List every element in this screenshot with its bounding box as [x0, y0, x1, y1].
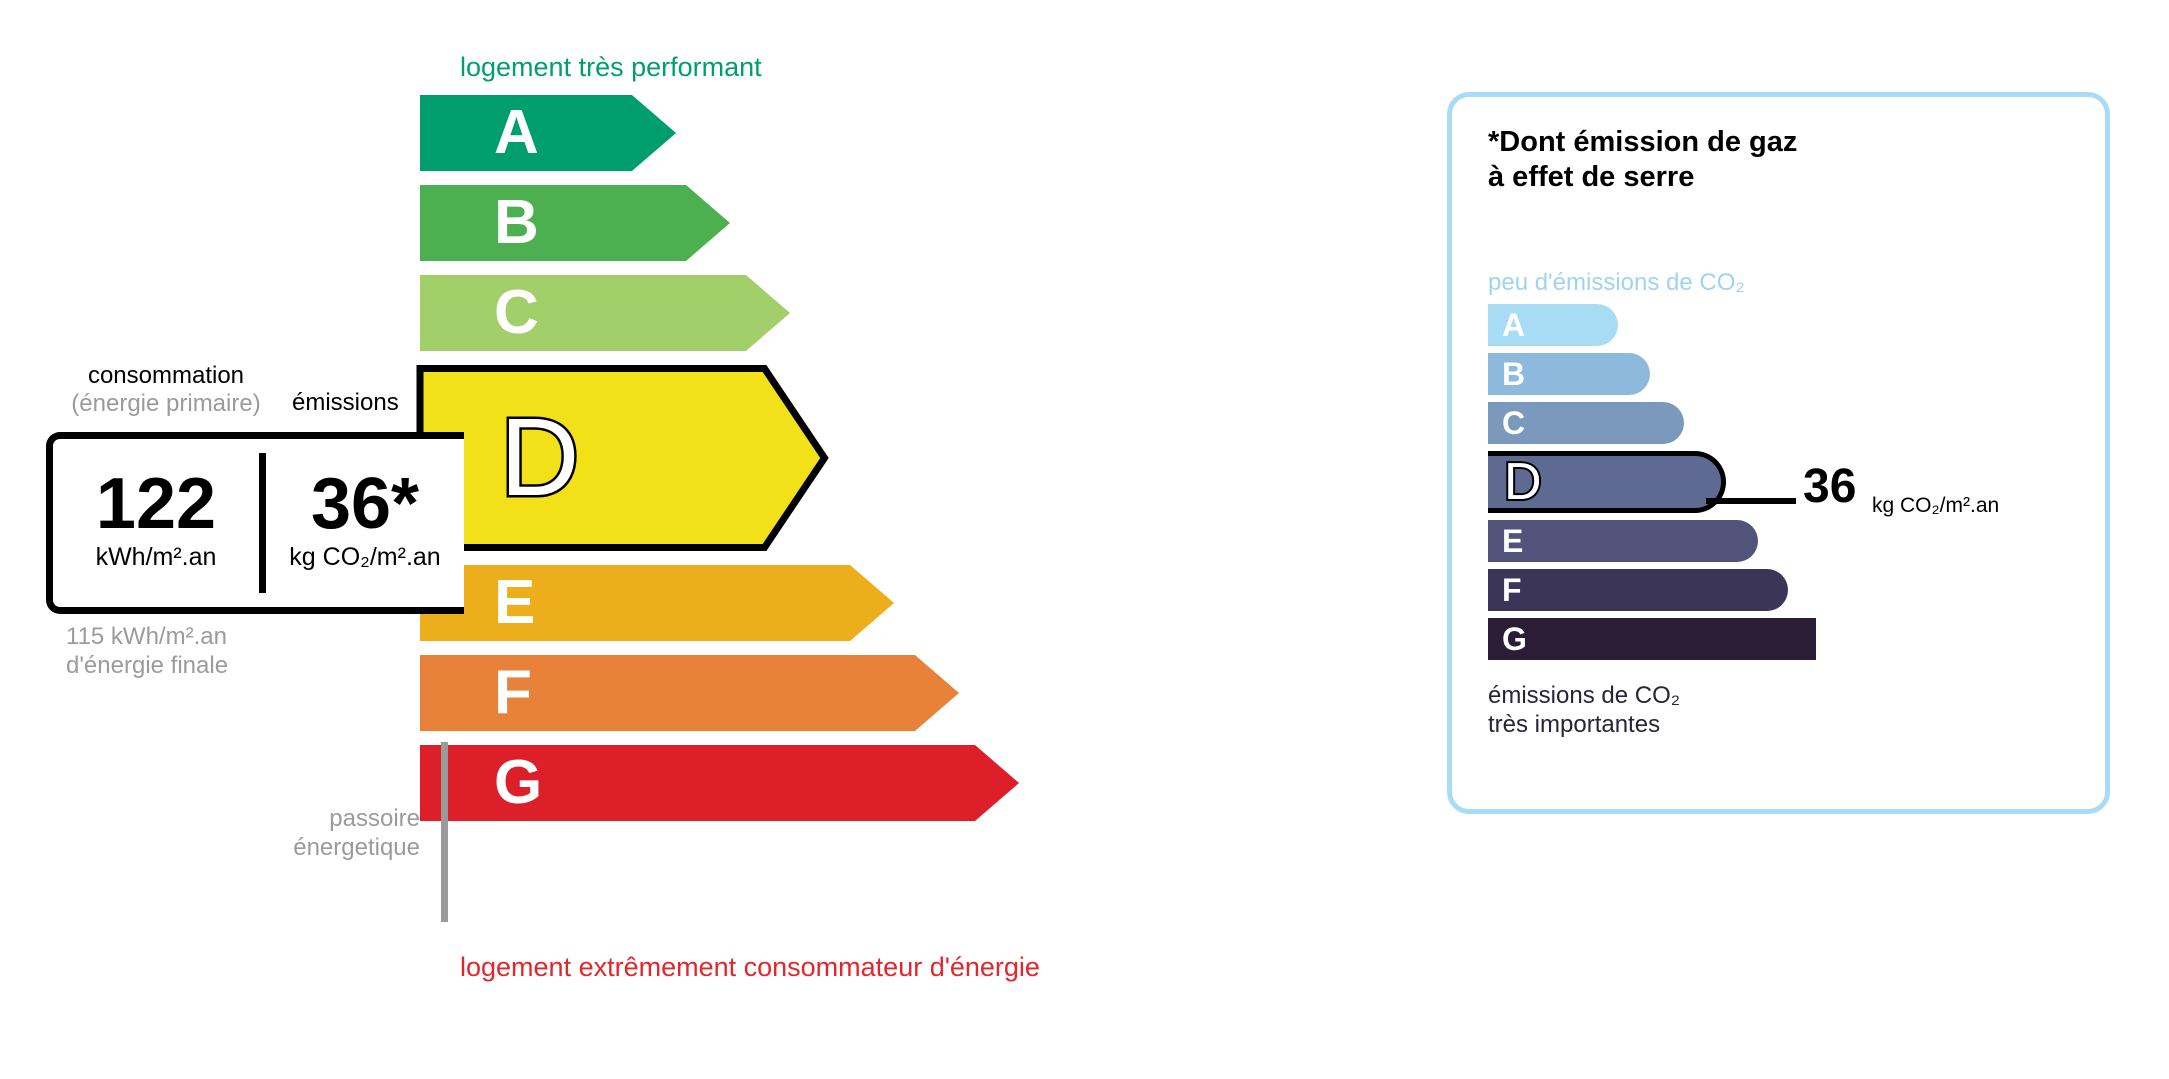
consumption-label: consommation (énergie primaire): [66, 362, 266, 417]
primary-energy-unit: kWh/m².an: [53, 543, 259, 572]
co2-scale-rows: ABCDEFG: [1488, 304, 2088, 667]
primary-energy-cell: 122 kWh/m².an: [53, 470, 259, 576]
energy-grade-row-f: F: [460, 655, 1260, 731]
energy-grade-row-e: E: [460, 565, 1260, 641]
emissions-unit: kg CO₂/m².an: [266, 543, 464, 572]
co2-top-caption: peu d'émissions de CO₂: [1488, 269, 1745, 297]
emissions-label: émissions: [292, 389, 399, 417]
co2-grade-letter-a: A: [1502, 309, 1525, 341]
co2-grade-bar-e: [1488, 520, 1758, 562]
co2-grade-letter-e: E: [1502, 525, 1523, 557]
co2-grade-bar-g: [1488, 618, 1816, 660]
passoire-marker-bar: [441, 742, 448, 922]
scale-bottom-caption: logement extrêmement consommateur d'éner…: [460, 952, 1040, 983]
energy-grade-arrow-a: A: [460, 95, 1260, 171]
consumption-label-sub: (énergie primaire): [66, 390, 266, 418]
passoire-label-line1: passoire: [230, 805, 420, 834]
final-energy-footnote: 115 kWh/m².an d'énergie finale: [66, 623, 228, 681]
co2-callout-unit: kg CO₂/m².an: [1872, 495, 1999, 516]
consumption-label-main: consommation: [66, 362, 266, 390]
energy-grade-arrow-c: C: [460, 275, 1260, 351]
energy-grade-row-g: G: [460, 745, 1260, 821]
energy-grade-arrow-g: G: [460, 745, 1260, 821]
co2-grade-letter-g: G: [1502, 623, 1527, 655]
final-energy-value: 115 kWh/m².an: [66, 623, 228, 652]
co2-grade-row-g: G: [1488, 618, 2088, 660]
energy-grade-row-a: A: [460, 95, 1260, 171]
co2-grade-letter-d: D: [1504, 456, 1542, 508]
energy-performance-diagram: logement très performant ABCDEFG logemen…: [0, 0, 1400, 1079]
final-energy-caption: d'énergie finale: [66, 652, 228, 681]
co2-grade-bar-f: [1488, 569, 1788, 611]
co2-grade-letter-f: F: [1502, 574, 1522, 606]
energy-grade-row-d: D: [460, 365, 1260, 551]
co2-grade-row-a: A: [1488, 304, 2088, 346]
energy-grade-row-c: C: [460, 275, 1260, 351]
value-box-divider: [259, 453, 266, 593]
co2-callout-leader-line: [1706, 498, 1796, 504]
co2-grade-row-c: C: [1488, 402, 2088, 444]
co2-grade-letter-c: C: [1502, 407, 1525, 439]
energy-scale-rows: ABCDEFG: [460, 95, 1260, 835]
co2-emissions-panel: *Dont émission de gaz à effet de serre p…: [1447, 92, 2110, 814]
co2-bottom-caption-line1: émissions de CO₂: [1488, 682, 1680, 711]
energy-grade-arrow-b: B: [460, 185, 1260, 261]
co2-grade-letter-b: B: [1502, 358, 1525, 390]
primary-energy-value: 122: [53, 470, 259, 538]
co2-title-line1: *Dont émission de gaz: [1488, 125, 1797, 160]
energy-grade-row-b: B: [460, 185, 1260, 261]
co2-bottom-caption: émissions de CO₂ très importantes: [1488, 682, 1680, 740]
co2-title-line2: à effet de serre: [1488, 160, 1797, 195]
value-box: 122 kWh/m².an 36* kg CO₂/m².an: [46, 432, 464, 614]
passoire-label: passoire énergetique: [230, 805, 420, 863]
emissions-value: 36*: [266, 470, 464, 538]
co2-grade-row-b: B: [1488, 353, 2088, 395]
co2-bottom-caption-line2: très importantes: [1488, 711, 1680, 740]
emissions-cell: 36* kg CO₂/m².an: [266, 470, 464, 576]
scale-top-caption: logement très performant: [460, 52, 762, 83]
passoire-label-line2: énergetique: [230, 834, 420, 863]
energy-grade-arrow-e: E: [460, 565, 1260, 641]
co2-grade-row-f: F: [1488, 569, 2088, 611]
energy-grade-arrow-f: F: [460, 655, 1260, 731]
energy-grade-arrow-d: D: [460, 365, 1260, 551]
co2-callout-value: 36: [1803, 463, 1856, 511]
co2-panel-title: *Dont émission de gaz à effet de serre: [1488, 125, 1797, 196]
co2-grade-row-e: E: [1488, 520, 2088, 562]
